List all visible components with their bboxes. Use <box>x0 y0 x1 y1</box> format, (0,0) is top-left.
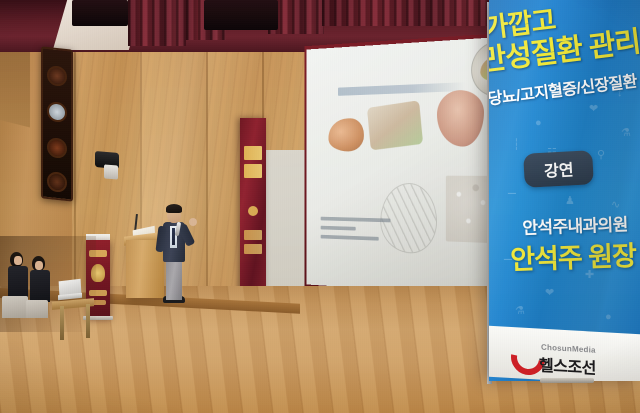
banner-footer: ChosunMedia 헬스조선 <box>489 326 640 381</box>
stage-curtain <box>128 0 186 46</box>
curtain-folds <box>128 0 186 46</box>
speaker-trousers <box>166 256 182 300</box>
banner-text-block <box>244 146 262 160</box>
health-seminar-banner: ♾ ● ❤ ↕ ⚗ ♟ ┆ ☷ ⚲ ⚊ ♟ ∿ ● ⚊ ✚ ♢ ❤ ⚗ ● ♾ … <box>489 0 640 381</box>
curtain-folds <box>322 0 502 26</box>
ornament-node <box>47 171 67 193</box>
table-leg <box>86 304 90 338</box>
lecture-hall-photo: ♾ ● ❤ ↕ ⚗ ♟ ┆ ☷ ⚲ ⚊ ♟ ∿ ● ⚊ ✚ ♢ ❤ ⚗ ● ♾ … <box>0 0 640 413</box>
screen-glare <box>307 36 516 298</box>
decorative-wall-ornament <box>41 46 73 201</box>
banner-lighting-texture <box>489 0 640 381</box>
audience-torso <box>30 270 50 302</box>
logo-text-korean: 헬스조선 <box>539 352 596 379</box>
banner-text-block <box>244 244 262 254</box>
banner-text-block <box>244 230 262 240</box>
ornament-node <box>47 65 67 87</box>
wall-hanging-banner <box>240 118 266 298</box>
banner-floor-stand <box>540 378 594 383</box>
audience-torso <box>8 266 28 300</box>
stage-lighting-rig <box>72 0 128 26</box>
ornament-node <box>47 137 67 159</box>
banner-emblem <box>248 206 258 216</box>
audience-face <box>35 261 43 270</box>
wall-panel-seam <box>206 14 208 302</box>
ornament-node <box>47 101 67 123</box>
stage-curtain <box>322 0 502 26</box>
speaker-hair <box>166 204 182 213</box>
audience-seat <box>2 296 28 318</box>
audience-face <box>14 256 22 265</box>
camera-mount-bracket <box>104 164 118 179</box>
banner-text-block <box>244 164 262 178</box>
stage-lighting-rig <box>204 0 278 30</box>
projection-screen <box>307 36 516 298</box>
table-leg <box>60 306 64 340</box>
speaker-hand <box>189 218 197 226</box>
audience-seat <box>26 300 48 318</box>
